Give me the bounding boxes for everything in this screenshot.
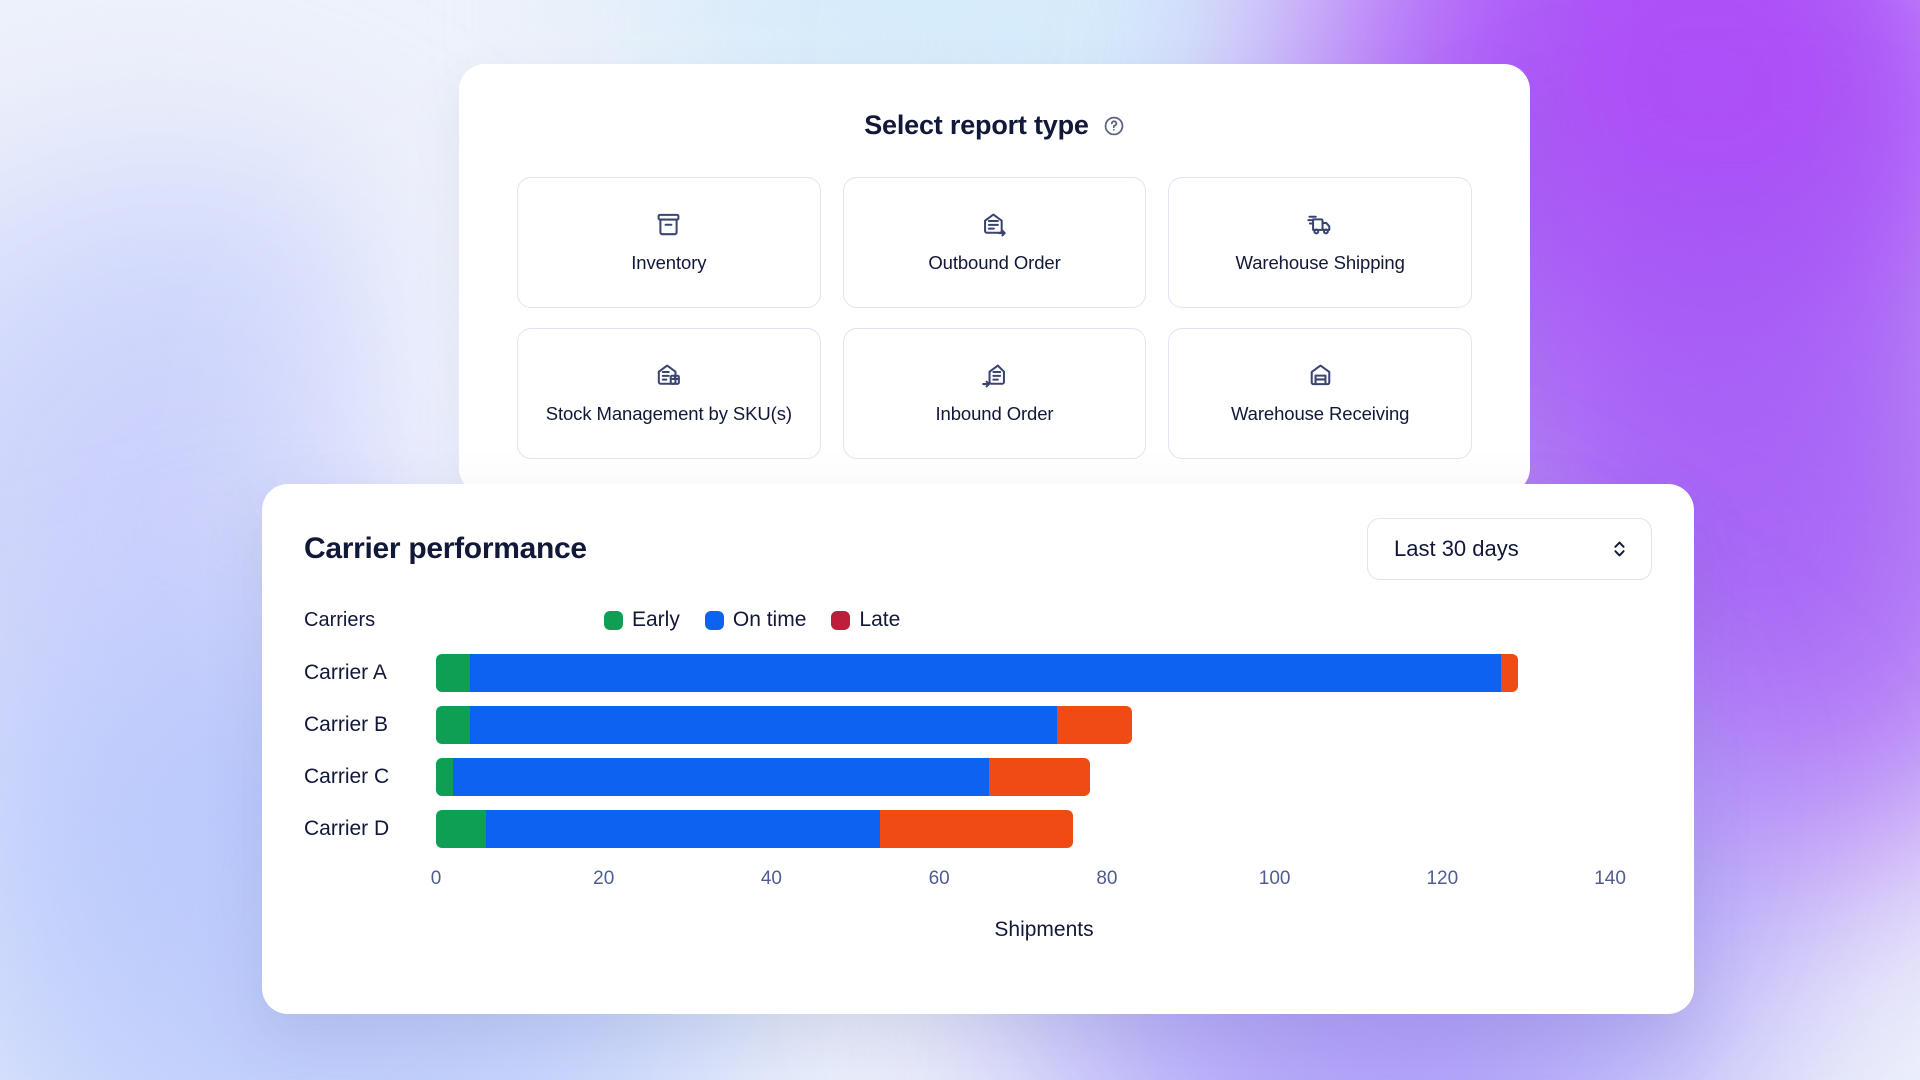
legend-label: Late — [859, 608, 900, 632]
date-range-select[interactable]: Last 30 days — [1367, 518, 1652, 580]
date-range-value: Last 30 days — [1394, 536, 1519, 562]
bar-category-label: Carrier A — [304, 661, 436, 685]
bar-segment-early[interactable] — [436, 810, 486, 848]
x-axis-tick: 100 — [1259, 868, 1291, 890]
x-axis-tick: 120 — [1426, 868, 1458, 890]
legend-item-on-time[interactable]: On time — [705, 608, 807, 632]
bar-track — [436, 758, 1652, 796]
report-type-label: Stock Management by SKU(s) — [546, 403, 792, 425]
bar-segment-late[interactable] — [880, 810, 1073, 848]
legend-swatch-icon — [831, 611, 850, 630]
x-axis-title: Shipments — [436, 918, 1652, 942]
legend-label: Early — [632, 608, 680, 632]
report-type-grid: Inventory Outbound Order — [517, 177, 1472, 459]
page-title: Carrier performance — [304, 532, 587, 566]
legend-item-early[interactable]: Early — [604, 608, 680, 632]
x-axis-tick: 20 — [593, 868, 614, 890]
x-axis-tick: 40 — [761, 868, 782, 890]
x-axis-tick: 140 — [1594, 868, 1626, 890]
bar-track — [436, 654, 1652, 692]
bar-segment-early[interactable] — [436, 654, 470, 692]
x-axis-tick: 80 — [1096, 868, 1117, 890]
bar-category-label: Carrier D — [304, 817, 436, 841]
y-axis-title: Carriers — [304, 609, 604, 632]
legend-swatch-icon — [705, 611, 724, 630]
carrier-performance-panel: Carrier performance Last 30 days Carrier… — [262, 484, 1694, 1014]
legend-item-late[interactable]: Late — [831, 608, 900, 632]
report-type-label: Inventory — [631, 252, 706, 274]
bar-segment-on-time[interactable] — [453, 758, 990, 796]
x-axis-tick: 0 — [431, 868, 442, 890]
archive-box-icon — [655, 211, 682, 238]
report-type-header: Select report type — [517, 110, 1472, 141]
outbound-warehouse-icon — [981, 211, 1008, 238]
legend-swatch-icon — [604, 611, 623, 630]
bar-segment-early[interactable] — [436, 758, 453, 796]
chart-bar-row: Carrier D — [304, 808, 1652, 850]
chart-legend-row: Carriers EarlyOn timeLate — [304, 606, 1652, 634]
report-type-warehouse-receiving[interactable]: Warehouse Receiving — [1168, 328, 1472, 459]
report-type-stock-management[interactable]: Stock Management by SKU(s) — [517, 328, 821, 459]
delivery-truck-icon — [1307, 211, 1334, 238]
report-type-inventory[interactable]: Inventory — [517, 177, 821, 308]
panel-header: Carrier performance Last 30 days — [304, 518, 1652, 580]
bar-track — [436, 706, 1652, 744]
chevron-updown-icon — [1610, 538, 1629, 560]
chart-bar-row: Carrier A — [304, 652, 1652, 694]
report-type-title: Select report type — [864, 110, 1088, 141]
question-circle-icon[interactable] — [1103, 115, 1125, 137]
warehouse-package-icon — [655, 362, 682, 389]
report-type-inbound-order[interactable]: Inbound Order — [843, 328, 1147, 459]
bar-segment-late[interactable] — [1057, 706, 1132, 744]
bar-segment-late[interactable] — [1501, 654, 1518, 692]
report-type-label: Warehouse Shipping — [1236, 252, 1405, 274]
bar-category-label: Carrier C — [304, 765, 436, 789]
report-type-card: Select report type Inventory — [459, 64, 1530, 494]
report-type-label: Warehouse Receiving — [1231, 403, 1409, 425]
app-root: Select report type Inventory — [0, 0, 1920, 1080]
chart-bar-row: Carrier C — [304, 756, 1652, 798]
bar-category-label: Carrier B — [304, 713, 436, 737]
stacked-bar-chart: Carrier ACarrier BCarrier CCarrier D — [304, 652, 1652, 850]
x-axis: 020406080100120140 — [436, 860, 1652, 906]
chart-bar-row: Carrier B — [304, 704, 1652, 746]
bar-segment-on-time[interactable] — [486, 810, 880, 848]
bar-segment-on-time[interactable] — [470, 706, 1057, 744]
bar-segment-early[interactable] — [436, 706, 470, 744]
report-type-label: Outbound Order — [928, 252, 1060, 274]
bar-segment-late[interactable] — [989, 758, 1090, 796]
bar-track — [436, 810, 1652, 848]
warehouse-icon — [1307, 362, 1334, 389]
inbound-warehouse-icon — [981, 362, 1008, 389]
legend-label: On time — [733, 608, 807, 632]
report-type-outbound-order[interactable]: Outbound Order — [843, 177, 1147, 308]
x-axis-tick: 60 — [929, 868, 950, 890]
report-type-warehouse-shipping[interactable]: Warehouse Shipping — [1168, 177, 1472, 308]
report-type-label: Inbound Order — [935, 403, 1053, 425]
chart-legend: EarlyOn timeLate — [604, 608, 916, 632]
bar-segment-on-time[interactable] — [470, 654, 1502, 692]
